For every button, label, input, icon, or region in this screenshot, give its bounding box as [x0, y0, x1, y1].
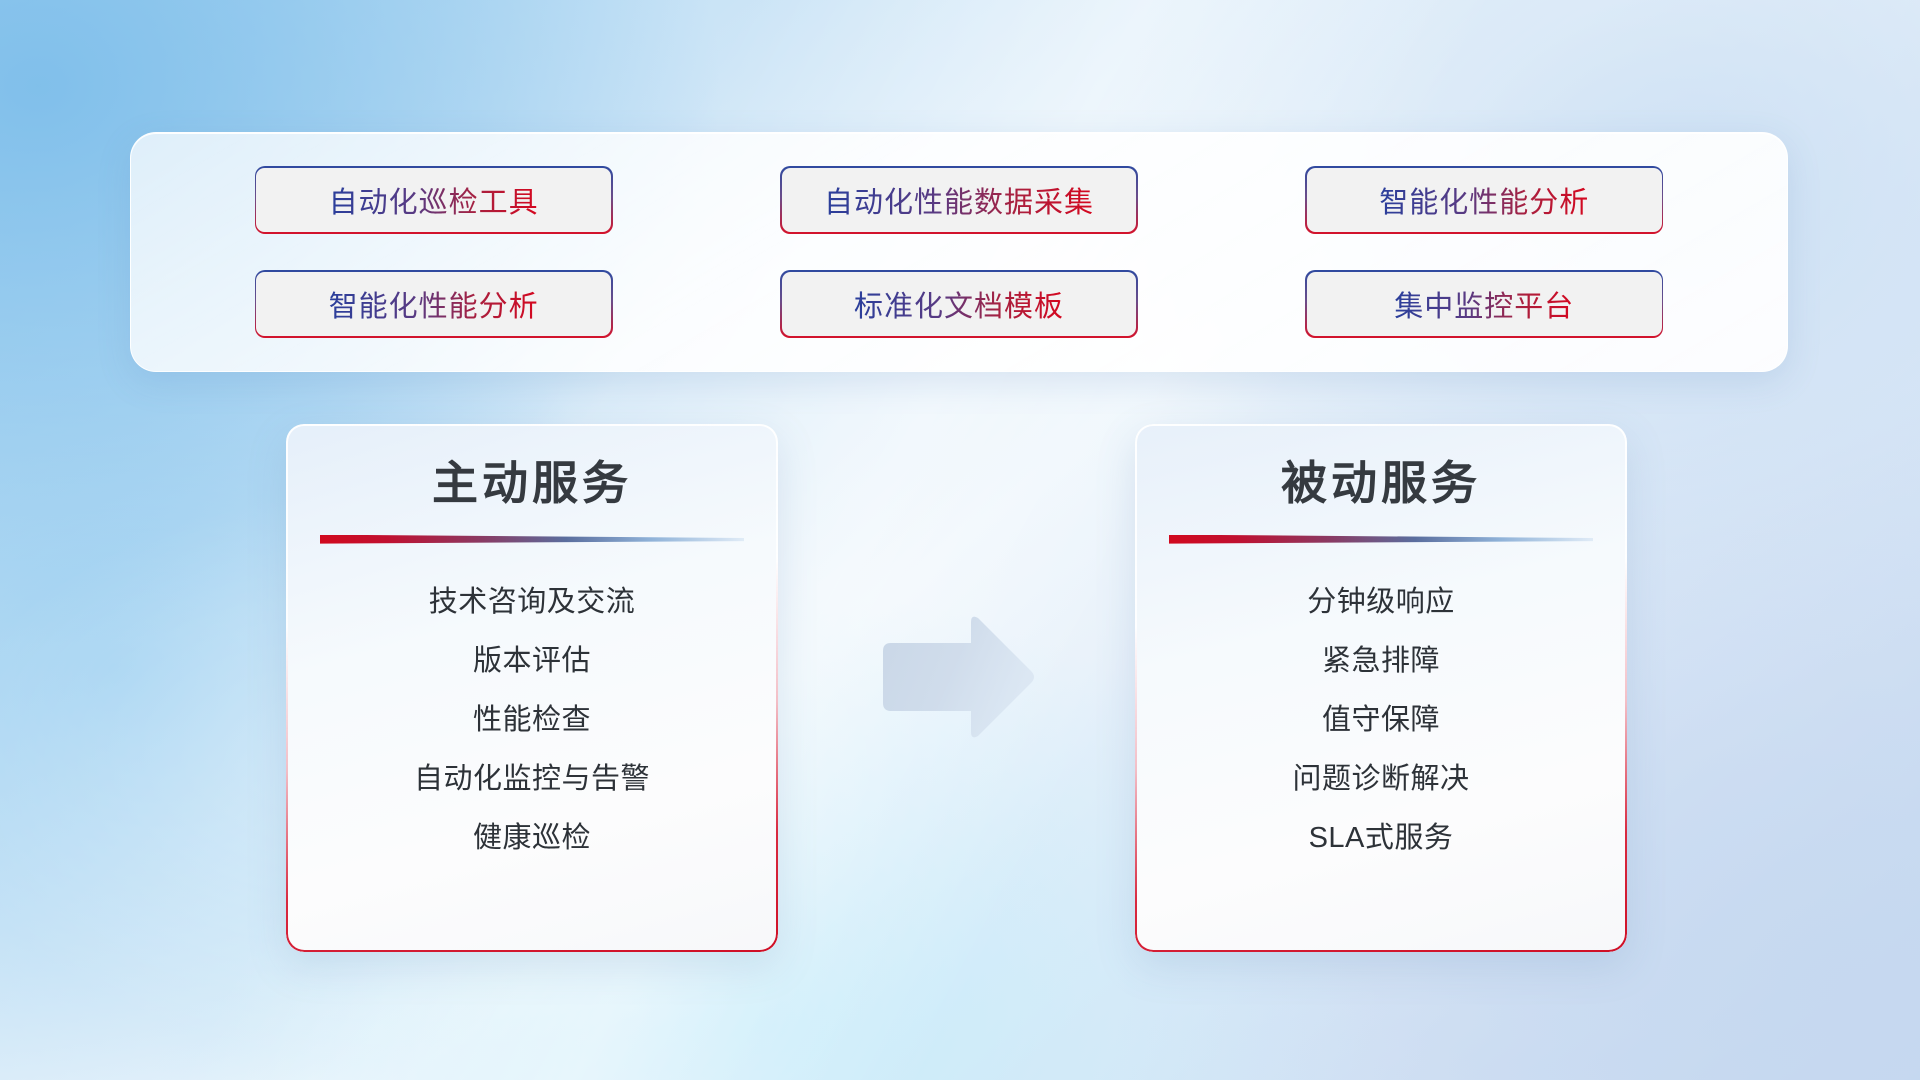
service-item: SLA式服务 — [1309, 814, 1454, 856]
service-item: 健康巡检 — [473, 814, 591, 856]
capability-tag-label: 智能化性能分析 — [1379, 179, 1589, 221]
capability-tag-surface: 智能化性能分析 — [256, 272, 611, 337]
capability-tag-surface: 智能化性能分析 — [1307, 168, 1662, 233]
capability-tag-surface: 标准化文档模板 — [782, 272, 1137, 337]
service-item: 值守保障 — [1322, 696, 1440, 738]
capability-tag-label: 智能化性能分析 — [329, 283, 539, 325]
title-divider — [320, 535, 744, 544]
service-item: 问题诊断解决 — [1292, 755, 1469, 797]
capability-tag-1[interactable]: 自动化性能数据采集 — [780, 166, 1138, 234]
service-item: 技术咨询及交流 — [429, 578, 636, 620]
capability-tag-surface: 自动化性能数据采集 — [782, 168, 1137, 233]
capability-tag-label: 标准化文档模板 — [854, 283, 1064, 325]
capability-tag-4[interactable]: 标准化文档模板 — [780, 270, 1138, 338]
arrow-right-icon — [877, 613, 1037, 741]
capability-tag-label: 自动化巡检工具 — [329, 179, 539, 221]
capability-tag-label: 集中监控平台 — [1394, 283, 1574, 325]
service-item: 紧急排障 — [1322, 637, 1440, 679]
capability-tag-5[interactable]: 集中监控平台 — [1305, 270, 1663, 338]
service-item-list: 技术咨询及交流 版本评估 性能检查 自动化监控与告警 健康巡检 — [312, 578, 752, 856]
title-divider — [1169, 535, 1593, 544]
service-item-list: 分钟级响应 紧急排障 值守保障 问题诊断解决 SLA式服务 — [1161, 578, 1601, 856]
service-item: 版本评估 — [473, 637, 591, 679]
service-item: 自动化监控与告警 — [414, 755, 650, 797]
service-card-content: 主动服务 技术咨询及交流 版本评估 性能检查 自动化监控与告警 健康巡检 — [286, 424, 778, 952]
service-item: 分钟级响应 — [1307, 578, 1455, 620]
capability-tag-label: 自动化性能数据采集 — [824, 179, 1094, 221]
service-card-passive: 被动服务 分钟级响应 紧急排障 值守保障 问题诊断解决 SLA式服务 — [1135, 424, 1627, 952]
capabilities-panel: 自动化巡检工具 自动化性能数据采集 智能化性能分析 智能化性能分析 标准化文档模… — [130, 132, 1788, 372]
service-card-content: 被动服务 分钟级响应 紧急排障 值守保障 问题诊断解决 SLA式服务 — [1135, 424, 1627, 952]
capability-tag-3[interactable]: 智能化性能分析 — [255, 270, 613, 338]
service-card-active: 主动服务 技术咨询及交流 版本评估 性能检查 自动化监控与告警 健康巡检 — [286, 424, 778, 952]
capability-tag-0[interactable]: 自动化巡检工具 — [255, 166, 613, 234]
service-card-title: 主动服务 — [432, 458, 632, 509]
capability-tag-surface: 自动化巡检工具 — [256, 168, 611, 233]
capability-tag-2[interactable]: 智能化性能分析 — [1305, 166, 1663, 234]
service-item: 性能检查 — [473, 696, 591, 738]
capability-tag-surface: 集中监控平台 — [1307, 272, 1662, 337]
service-card-title: 被动服务 — [1281, 458, 1481, 509]
